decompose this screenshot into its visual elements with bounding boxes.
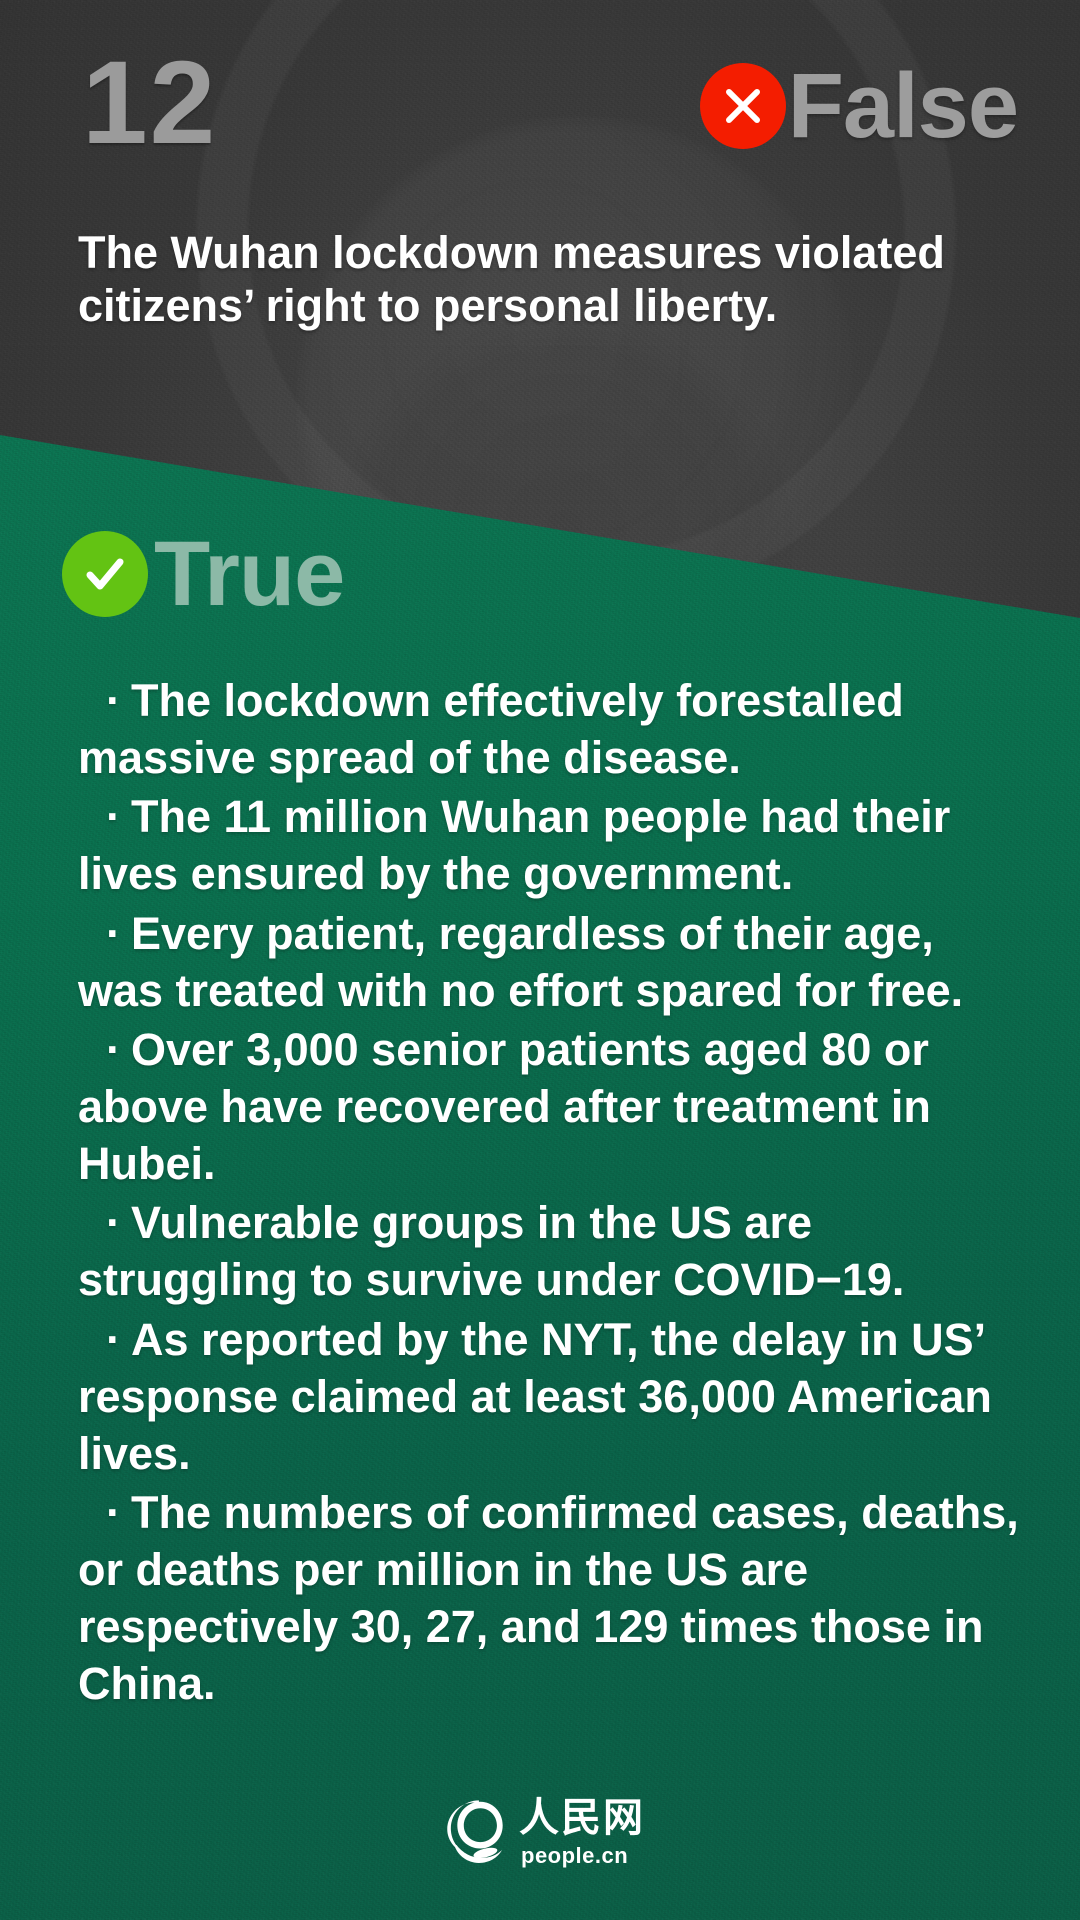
fact-list: ·The lockdown effectively forestalled ma… [78, 672, 1028, 1715]
bullet-dot: · [106, 675, 131, 726]
false-verdict-group: False [700, 60, 1018, 152]
true-label: True [154, 528, 344, 620]
cross-circle-icon [700, 63, 786, 149]
footer: 人民网 people.cn [0, 1796, 1080, 1868]
bullet-dot: · [106, 1024, 131, 1075]
fact-text: Vulnerable groups in the US are struggli… [78, 1197, 904, 1305]
bullet-dot: · [106, 791, 131, 842]
fact-item: ·As reported by the NYT, the delay in US… [78, 1311, 1028, 1482]
false-claim-text: The Wuhan lockdown measures violated cit… [78, 226, 1020, 332]
fact-item: ·The numbers of confirmed cases, deaths,… [78, 1484, 1028, 1713]
infographic-card: 12 False The Wuhan lockdown measures vio… [0, 0, 1080, 1920]
fact-text: The numbers of confirmed cases, deaths, … [78, 1487, 1019, 1709]
bullet-dot: · [106, 908, 131, 959]
true-verdict-group: True [62, 528, 344, 620]
bullet-dot: · [106, 1314, 131, 1365]
fact-text: Every patient, regardless of their age, … [78, 908, 963, 1016]
check-circle-icon [62, 531, 148, 617]
logo-latin-name: people.cn [521, 1845, 628, 1867]
fact-text: As reported by the NYT, the delay in US’… [78, 1314, 992, 1479]
fact-item: ·Every patient, regardless of their age,… [78, 905, 1028, 1019]
people-cn-logo: 人民网 people.cn [435, 1796, 645, 1868]
false-label: False [788, 60, 1018, 152]
logo-wordmark: 人民网 people.cn [519, 1798, 645, 1867]
fact-text: The lockdown effectively forestalled mas… [78, 675, 904, 783]
item-number: 12 [82, 44, 217, 162]
people-cn-logo-icon [435, 1796, 507, 1868]
bullet-dot: · [106, 1197, 131, 1248]
fact-item: ·Over 3,000 senior patients aged 80 or a… [78, 1021, 1028, 1192]
fact-item: ·Vulnerable groups in the US are struggl… [78, 1194, 1028, 1308]
fact-item: ·The 11 million Wuhan people had their l… [78, 788, 1028, 902]
bullet-dot: · [106, 1487, 131, 1538]
false-header-row: 12 False [0, 50, 1080, 180]
fact-item: ·The lockdown effectively forestalled ma… [78, 672, 1028, 786]
fact-text: The 11 million Wuhan people had their li… [78, 791, 950, 899]
logo-chinese-name: 人民网 [519, 1798, 645, 1838]
fact-text: Over 3,000 senior patients aged 80 or ab… [78, 1024, 931, 1189]
